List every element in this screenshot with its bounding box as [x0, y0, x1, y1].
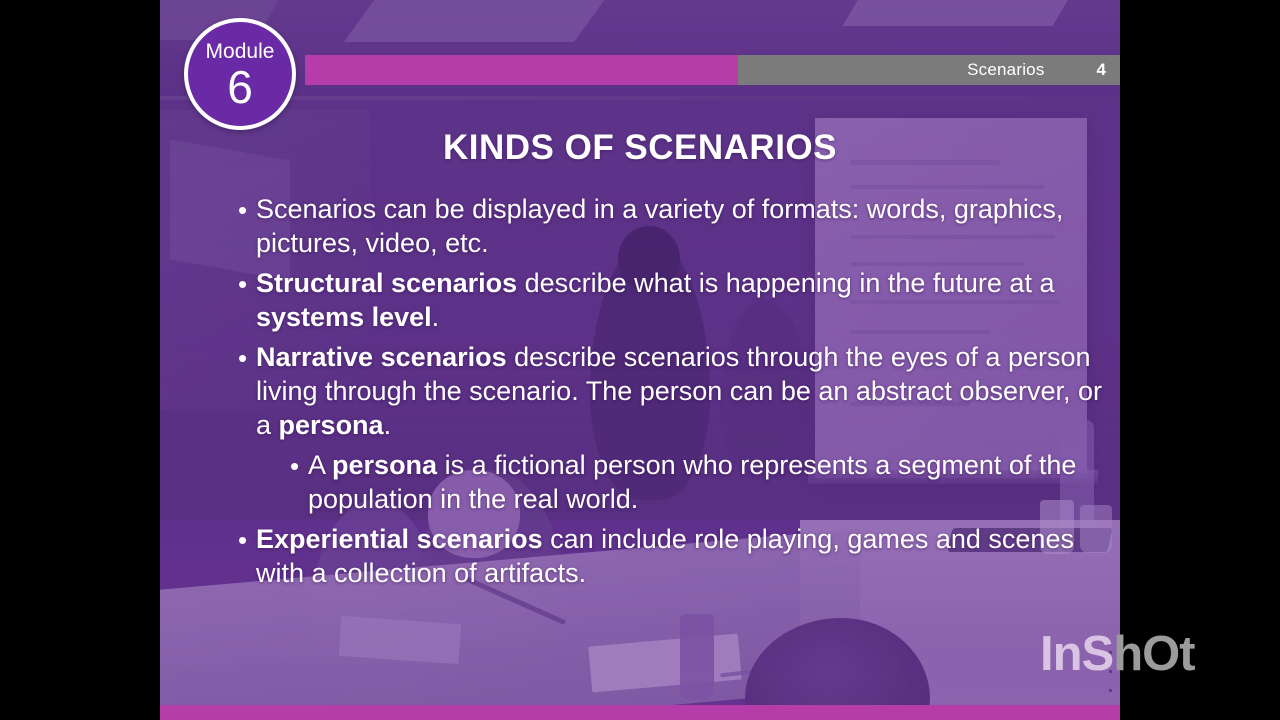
presentation-slide: Scenarios 4 Module 6 KINDS OF SCENARIOS …: [160, 0, 1120, 720]
header-section-label: Scenarios: [967, 60, 1044, 80]
bullet-emphasis: Experiential scenarios: [256, 524, 543, 554]
bullet-item: •Structural scenarios describe what is h…: [238, 266, 1118, 334]
bullet-emphasis: Structural scenarios: [256, 268, 517, 298]
bullet-run: describe what is happening in the future…: [517, 268, 1054, 298]
header-slide-number: 4: [1097, 60, 1106, 80]
bullet-item: •Narrative scenarios describe scenarios …: [238, 340, 1118, 442]
module-badge-word: Module: [206, 41, 275, 62]
bullet-dot-icon: •: [238, 522, 256, 558]
header-gray-segment: Scenarios 4: [738, 55, 1120, 85]
header-magenta-segment: [305, 55, 738, 85]
inshot-watermark: InShOt: [1040, 630, 1195, 679]
bullet-text: Narrative scenarios describe scenarios t…: [256, 340, 1118, 442]
bullet-emphasis: Narrative scenarios: [256, 342, 507, 372]
inshot-watermark-lead: InS: [1040, 627, 1113, 681]
inshot-watermark-tail: hOt: [1113, 627, 1194, 681]
module-badge-number: 6: [227, 64, 253, 110]
bullet-text: Scenarios can be displayed in a variety …: [256, 192, 1118, 260]
module-badge: Module 6: [184, 18, 296, 130]
bullet-text: Structural scenarios describe what is ha…: [256, 266, 1118, 334]
bullet-dot-icon: •: [290, 448, 308, 484]
bullet-dot-icon: •: [238, 340, 256, 376]
bullet-run: .: [384, 410, 392, 440]
bullet-run: Scenarios can be displayed in a variety …: [256, 194, 1063, 258]
bullet-run: .: [432, 302, 440, 332]
slide-title: KINDS OF SCENARIOS: [160, 128, 1120, 168]
bullet-dot-icon: •: [238, 192, 256, 228]
bullet-item: •Scenarios can be displayed in a variety…: [238, 192, 1118, 260]
slide-bottom-strip: [160, 705, 1120, 720]
bullet-dot-icon: •: [238, 266, 256, 302]
bullet-item: •Experiential scenarios can include role…: [238, 522, 1118, 590]
slide-header-band: Scenarios 4: [305, 55, 1120, 85]
bullet-emphasis: persona: [332, 450, 437, 480]
bullet-emphasis: systems level: [256, 302, 432, 332]
bullet-text: A persona is a fictional person who repr…: [308, 448, 1118, 516]
slide-bullet-list: •Scenarios can be displayed in a variety…: [238, 192, 1118, 596]
bullet-run: A: [308, 450, 332, 480]
video-player-stage: Scenarios 4 Module 6 KINDS OF SCENARIOS …: [0, 0, 1280, 720]
bullet-emphasis: persona: [279, 410, 384, 440]
bullet-text: Experiential scenarios can include role …: [256, 522, 1118, 590]
sub-bullet-item: •A persona is a fictional person who rep…: [238, 448, 1118, 516]
